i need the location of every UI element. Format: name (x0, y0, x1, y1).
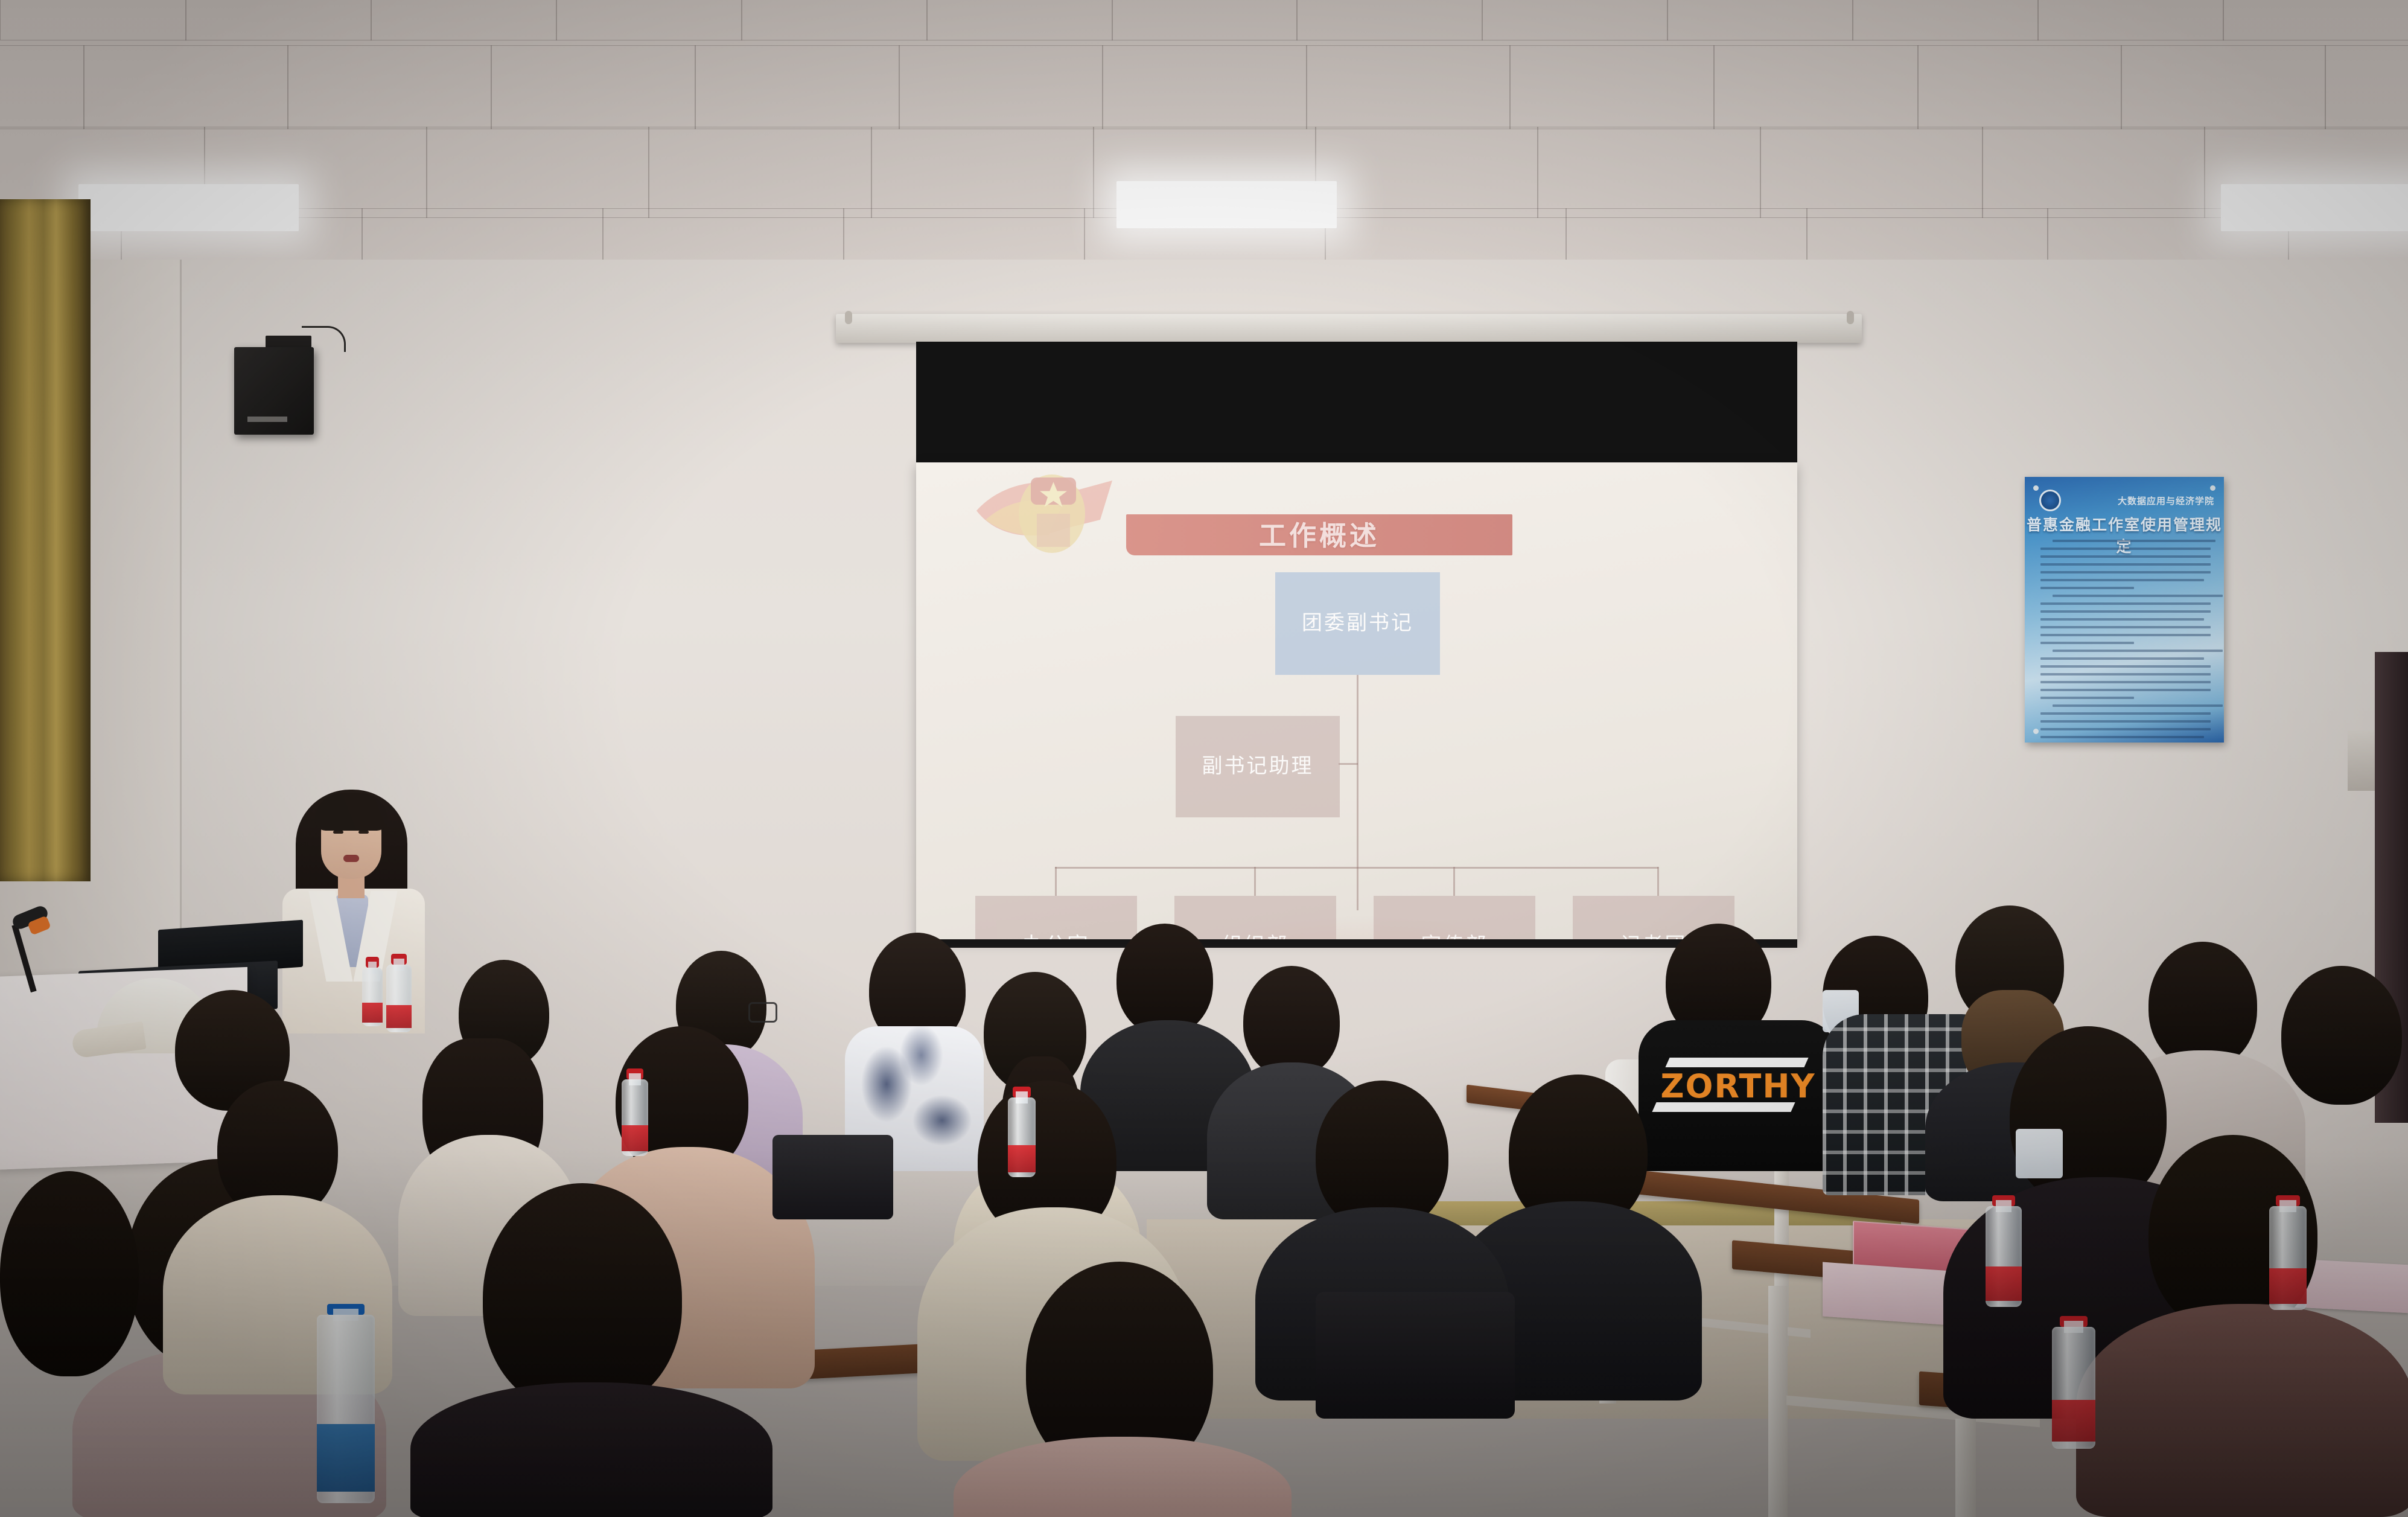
water-bottle (362, 957, 383, 1026)
recessed-panel-light (78, 184, 299, 231)
ceiling-tile (426, 127, 649, 218)
bottle-body (2269, 1206, 2307, 1310)
ceiling-tile (1852, 0, 2039, 40)
poster-text-line (2040, 720, 2211, 723)
bottle-body (622, 1079, 648, 1156)
ceiling-tile (1760, 127, 1983, 218)
jacket-flash-stripe-top (1665, 1058, 1808, 1067)
wall-fixture-box (2348, 730, 2378, 791)
bottle-label (1986, 1266, 2022, 1301)
ceiling-tile (1482, 0, 1668, 40)
poster-text-line (2040, 728, 2211, 730)
bottle-body (1008, 1097, 1036, 1177)
slide-wave-graphic (916, 879, 1302, 939)
poster-text-line (2040, 587, 2134, 589)
ceiling-tile (1982, 127, 2205, 218)
poster-text-line (2040, 610, 2211, 613)
water-bottle (317, 1304, 375, 1503)
ceiling-tile (695, 45, 900, 129)
bottle-label (2269, 1268, 2307, 1303)
water-bottle (1986, 1195, 2022, 1307)
speaker-brand-label (247, 417, 287, 422)
poster-text-line (2040, 579, 2204, 581)
bottle-body (317, 1315, 375, 1503)
ceiling-tile (1917, 45, 2123, 129)
ceiling-tile (1112, 0, 1298, 40)
classroom-chair (1316, 1292, 1515, 1419)
poster-text-line (2040, 689, 2211, 691)
ceiling-tile (1102, 45, 1307, 129)
poster-text-line (2040, 563, 2211, 566)
poster-text-line (2053, 595, 2223, 597)
poster-text-line (2040, 657, 2204, 660)
poster-text-line (2040, 642, 2134, 644)
connector-to-assistant (1339, 763, 1358, 765)
poster-text-line (2053, 650, 2223, 652)
institution-seal-logo (2039, 490, 2061, 511)
ceiling-tile (926, 0, 1113, 40)
ceiling-tile (1306, 45, 1511, 129)
bottle-label (1008, 1145, 1036, 1172)
bottle-body (386, 965, 412, 1032)
ceiling-tile (871, 127, 1094, 218)
roller-screen-housing (836, 314, 1862, 343)
bottle-body (2052, 1327, 2095, 1449)
bottle-body (1986, 1206, 2022, 1307)
poster-text-line (2040, 673, 2211, 675)
ceiling-tile (648, 127, 871, 218)
audience-zorthy-jacket: ZORTHY (1639, 1020, 1838, 1171)
poster-text-line (2040, 618, 2204, 621)
ceiling-tile (1537, 127, 1760, 218)
classroom-photo-scene: 工作概述 团委副书记 副书记助理 办公室 组织部 宣传部 记者团 大数据 (0, 0, 2408, 1517)
window-curtain (0, 199, 91, 881)
bottle-label (317, 1424, 375, 1492)
poster-text-line (2040, 634, 2211, 636)
recessed-panel-light (1116, 181, 1337, 228)
poster-pin-top-left (2033, 485, 2039, 491)
poster-text-line (2040, 712, 2211, 715)
poster-text-line (2040, 571, 2211, 573)
screen-black-border (916, 342, 1797, 477)
poster-text-line (2040, 555, 2211, 558)
org-node-root: 团委副书记 (1275, 572, 1440, 675)
classroom-chair (772, 1135, 893, 1219)
poster-text-line (2040, 681, 2211, 683)
poster-text-line (2040, 736, 2204, 738)
water-bottle (622, 1068, 648, 1156)
poster-body-text (2040, 540, 2211, 711)
ceiling-tile (1509, 45, 1715, 129)
ceiling-tile (287, 45, 492, 129)
water-bottle (2269, 1195, 2307, 1310)
poster-text-line (2053, 540, 2216, 542)
ceiling-tile (1296, 0, 1483, 40)
ceiling-tile (491, 45, 696, 129)
presenter-eye-right (358, 831, 369, 834)
water-bottle (2052, 1316, 2095, 1449)
bottle-label (362, 1003, 383, 1023)
ceiling-tile (185, 0, 372, 40)
ceiling-tile (1667, 0, 1853, 40)
bottle-label (622, 1125, 648, 1151)
presenter-speaker (278, 779, 441, 1032)
bottle-label (2052, 1400, 2095, 1442)
poster-organization: 大数据应用与经济学院 (2066, 494, 2214, 507)
poster-pin-bottom-left (2033, 729, 2039, 734)
org-node-assistant: 副书记助理 (1176, 716, 1340, 817)
ceiling-tile (2223, 0, 2408, 40)
slide-title: 工作概述 (1126, 518, 1512, 554)
presenter-fringe (315, 793, 387, 831)
bottle-label (386, 1005, 412, 1028)
water-bottle (1008, 1087, 1036, 1177)
ceiling-tile (2037, 0, 2224, 40)
ceiling-tile (0, 45, 84, 129)
poster-header: 大数据应用与经济学院 (2039, 490, 2214, 511)
recessed-panel-light (2221, 184, 2408, 231)
ceiling-tile (2325, 45, 2408, 129)
presentation-slide: 工作概述 团委副书记 副书记助理 办公室 组织部 宣传部 记者团 (916, 462, 1797, 939)
ceiling-tile (2121, 45, 2326, 129)
ceiling-tile (556, 0, 742, 40)
water-bottle (386, 954, 412, 1032)
presenter-eye-left (333, 831, 343, 834)
poster-text-line (2040, 697, 2134, 699)
poster-text-line (2053, 704, 2223, 707)
poster-text-line (2040, 602, 2211, 605)
ceiling-tile (1315, 127, 1538, 218)
ceiling-tile (1713, 45, 1919, 129)
jacket-brand-text: ZORTHY (1639, 1067, 1838, 1105)
projection-screen: 工作概述 团委副书记 副书记助理 办公室 组织部 宣传部 记者团 (916, 462, 1797, 939)
screen-mount-left (845, 311, 852, 324)
ceiling-tile (741, 0, 928, 40)
ceiling-tile (899, 45, 1104, 129)
poster-text-line (2040, 548, 2211, 550)
bottle-body (362, 968, 383, 1026)
ceiling-tile (371, 0, 557, 40)
wall-poster: 大数据应用与经济学院 普惠金融工作室使用管理规定 (2025, 477, 2224, 743)
presenter-mouth (343, 855, 359, 862)
screen-mount-right (1847, 311, 1854, 324)
ceiling-tile (0, 0, 186, 40)
ceiling-tile (83, 45, 288, 129)
poster-text-line (2040, 626, 2211, 628)
poster-text-line (2040, 665, 2211, 668)
communist-youth-league-emblem (964, 468, 1133, 619)
